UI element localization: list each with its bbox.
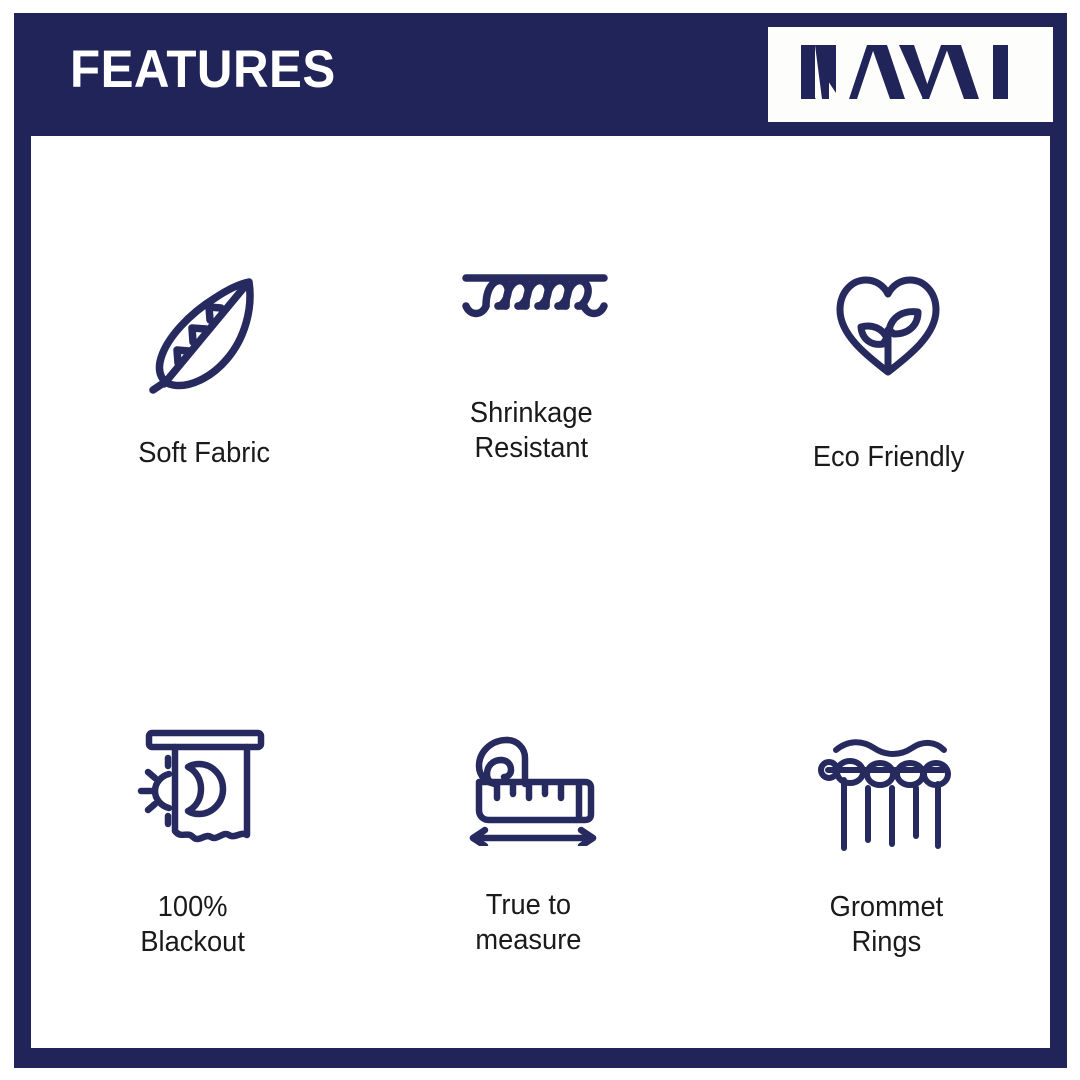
features-content-area: Soft Fabric xyxy=(31,136,1050,1048)
navi-wordmark-icon xyxy=(795,41,1027,108)
features-grid: Soft Fabric xyxy=(31,136,1050,1048)
feature-item-soft-fabric: Soft Fabric xyxy=(31,136,371,592)
navy-frame: FEATURES xyxy=(14,13,1067,1068)
feature-item-eco-friendly: Eco Friendly xyxy=(710,136,1050,592)
feature-label: Shrinkage Resistant xyxy=(470,396,593,466)
blackout-curtain-sun-moon-icon xyxy=(131,714,267,864)
features-card-page: FEATURES xyxy=(0,0,1080,1080)
brand-logo-box xyxy=(768,27,1053,122)
feature-item-blackout: 100% Blackout xyxy=(31,592,371,1048)
grommet-rings-curtain-rod-icon xyxy=(818,716,954,866)
feature-item-true-to-measure: True to measure xyxy=(371,592,711,1048)
measuring-tape-arrow-icon xyxy=(465,714,599,864)
heart-sprout-icon xyxy=(832,250,944,400)
feather-icon xyxy=(149,260,265,410)
header-band: FEATURES xyxy=(14,13,1067,128)
feature-item-shrinkage-resistant: Shrinkage Resistant xyxy=(371,136,711,592)
feature-item-grommet-rings: Grommet Rings xyxy=(710,592,1050,1048)
page-title: FEATURES xyxy=(70,43,336,96)
feature-label: 100% Blackout xyxy=(141,890,246,960)
feature-label: Grommet Rings xyxy=(829,890,943,960)
feature-label: Soft Fabric xyxy=(138,436,270,471)
feature-label: True to measure xyxy=(475,888,581,958)
twisted-rope-icon xyxy=(460,218,610,368)
feature-label: Eco Friendly xyxy=(812,440,964,475)
